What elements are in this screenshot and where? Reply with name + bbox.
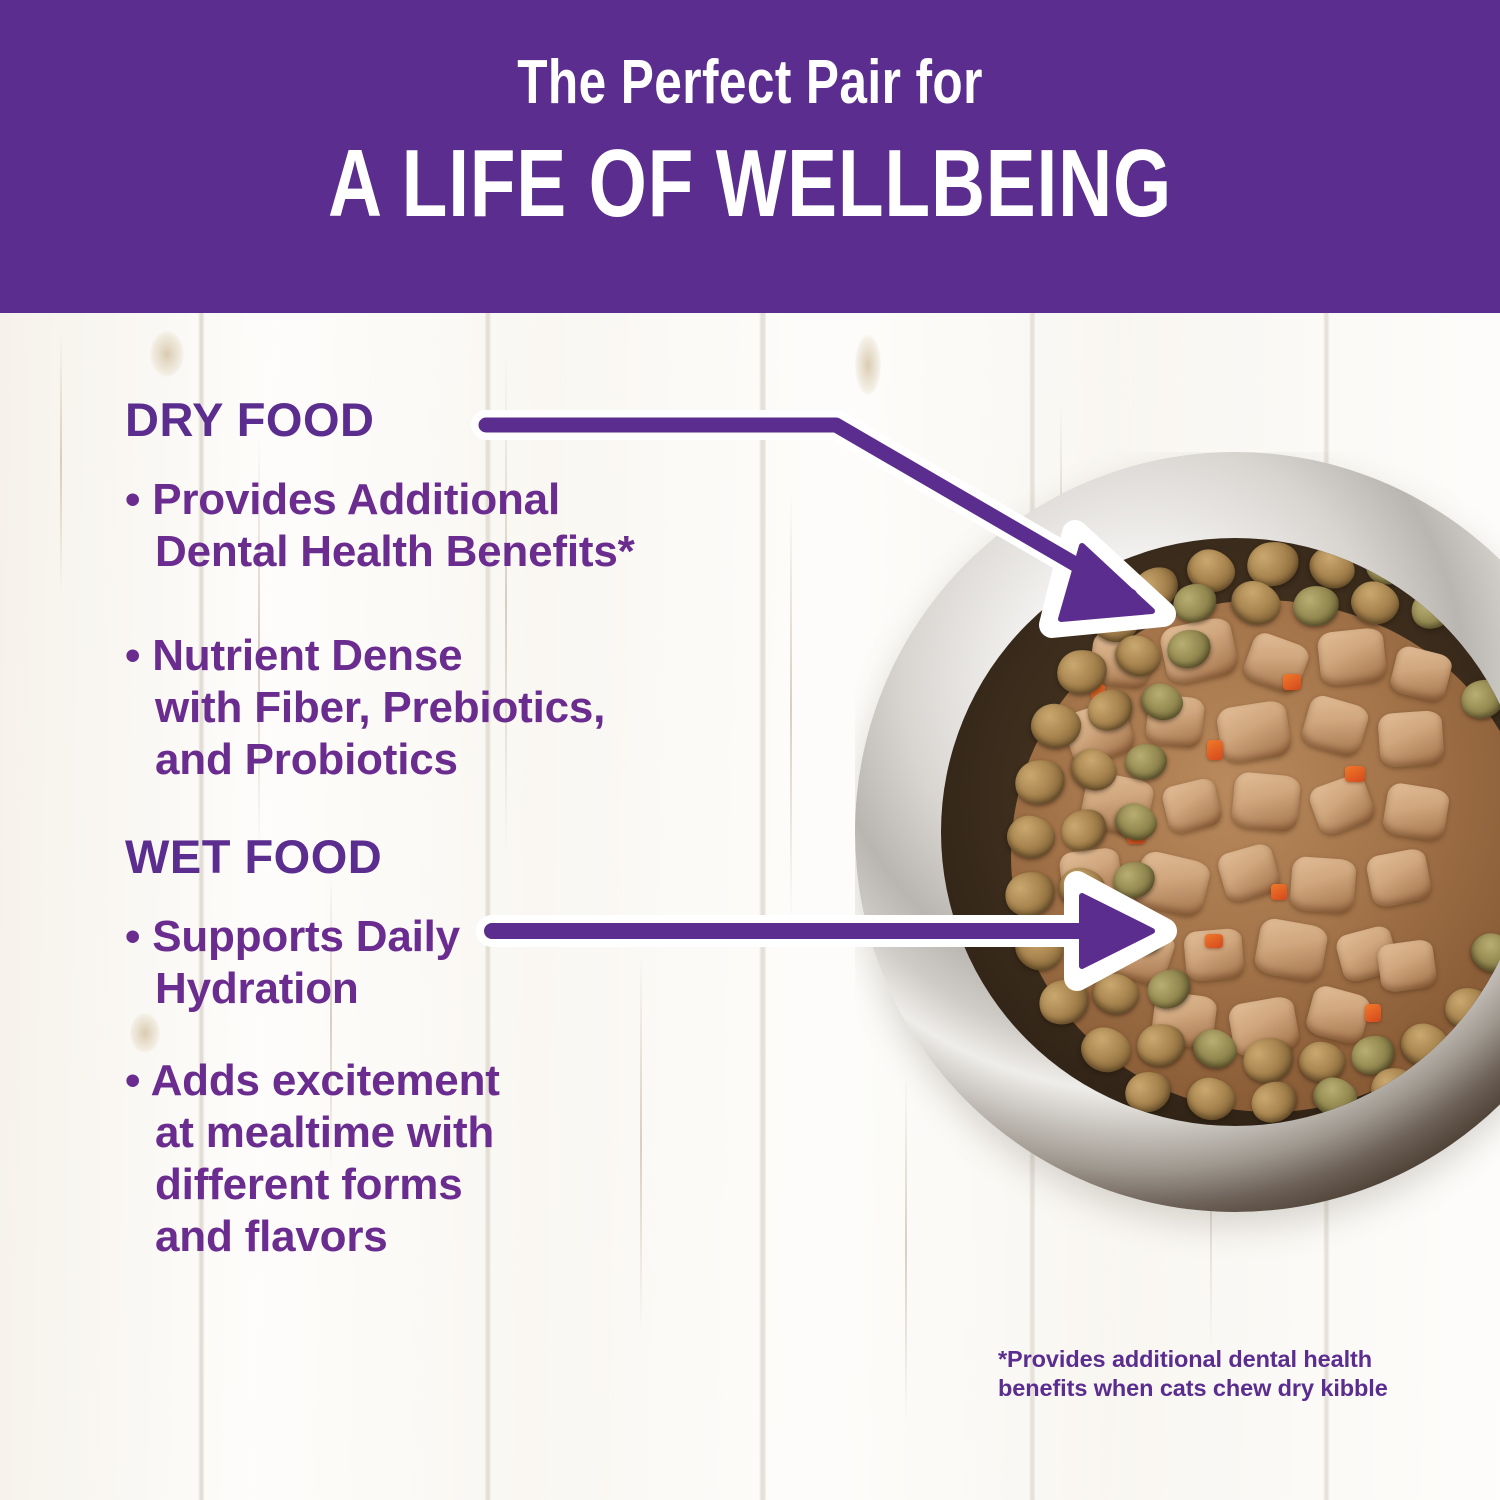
footnote-line-2: benefits when cats chew dry kibble (998, 1374, 1428, 1403)
infographic-page: The Perfect Pair for A LIFE OF WELLBEING (0, 0, 1500, 1500)
banner-title: A LIFE OF WELLBEING (165, 136, 1335, 232)
header-banner: The Perfect Pair for A LIFE OF WELLBEING (0, 0, 1500, 313)
bullet-line: different forms (155, 1160, 462, 1209)
bullet-line: at mealtime with (155, 1108, 494, 1157)
cat-food-bowl-photo (855, 452, 1500, 1312)
list-item: • Supports Daily Hydration (125, 911, 825, 1015)
section-heading-wet-food: WET FOOD (125, 833, 825, 881)
bullet-line: Dental Health Benefits* (155, 527, 635, 576)
footnote: *Provides additional dental health benef… (998, 1345, 1428, 1402)
list-item: • Adds excitement at mealtime with diffe… (125, 1055, 825, 1263)
bowl-interior (941, 538, 1500, 1126)
list-item: • Provides Additional Dental Health Bene… (125, 474, 825, 578)
list-item: • Nutrient Dense with Fiber, Prebiotics,… (125, 630, 825, 786)
bullet-line: Hydration (155, 964, 359, 1013)
banner-subtitle: The Perfect Pair for (150, 52, 1350, 114)
benefits-column: DRY FOOD • Provides Additional Dental He… (125, 396, 825, 1269)
bullet-line: and flavors (155, 1212, 388, 1261)
dry-food-bullet-list: • Provides Additional Dental Health Bene… (125, 474, 825, 786)
bullet-line: with Fiber, Prebiotics, (155, 683, 605, 732)
bullet-line: • Provides Additional (125, 475, 560, 524)
bullet-line: • Nutrient Dense (125, 631, 462, 680)
footnote-line-1: *Provides additional dental health (998, 1345, 1428, 1374)
bullet-line: and Probiotics (155, 735, 458, 784)
wet-food-bullet-list: • Supports Daily Hydration • Adds excite… (125, 911, 825, 1262)
steel-bowl (855, 452, 1500, 1212)
section-heading-dry-food: DRY FOOD (125, 396, 825, 444)
bullet-line: • Supports Daily (125, 912, 460, 961)
bullet-line: • Adds excitement (125, 1056, 500, 1105)
